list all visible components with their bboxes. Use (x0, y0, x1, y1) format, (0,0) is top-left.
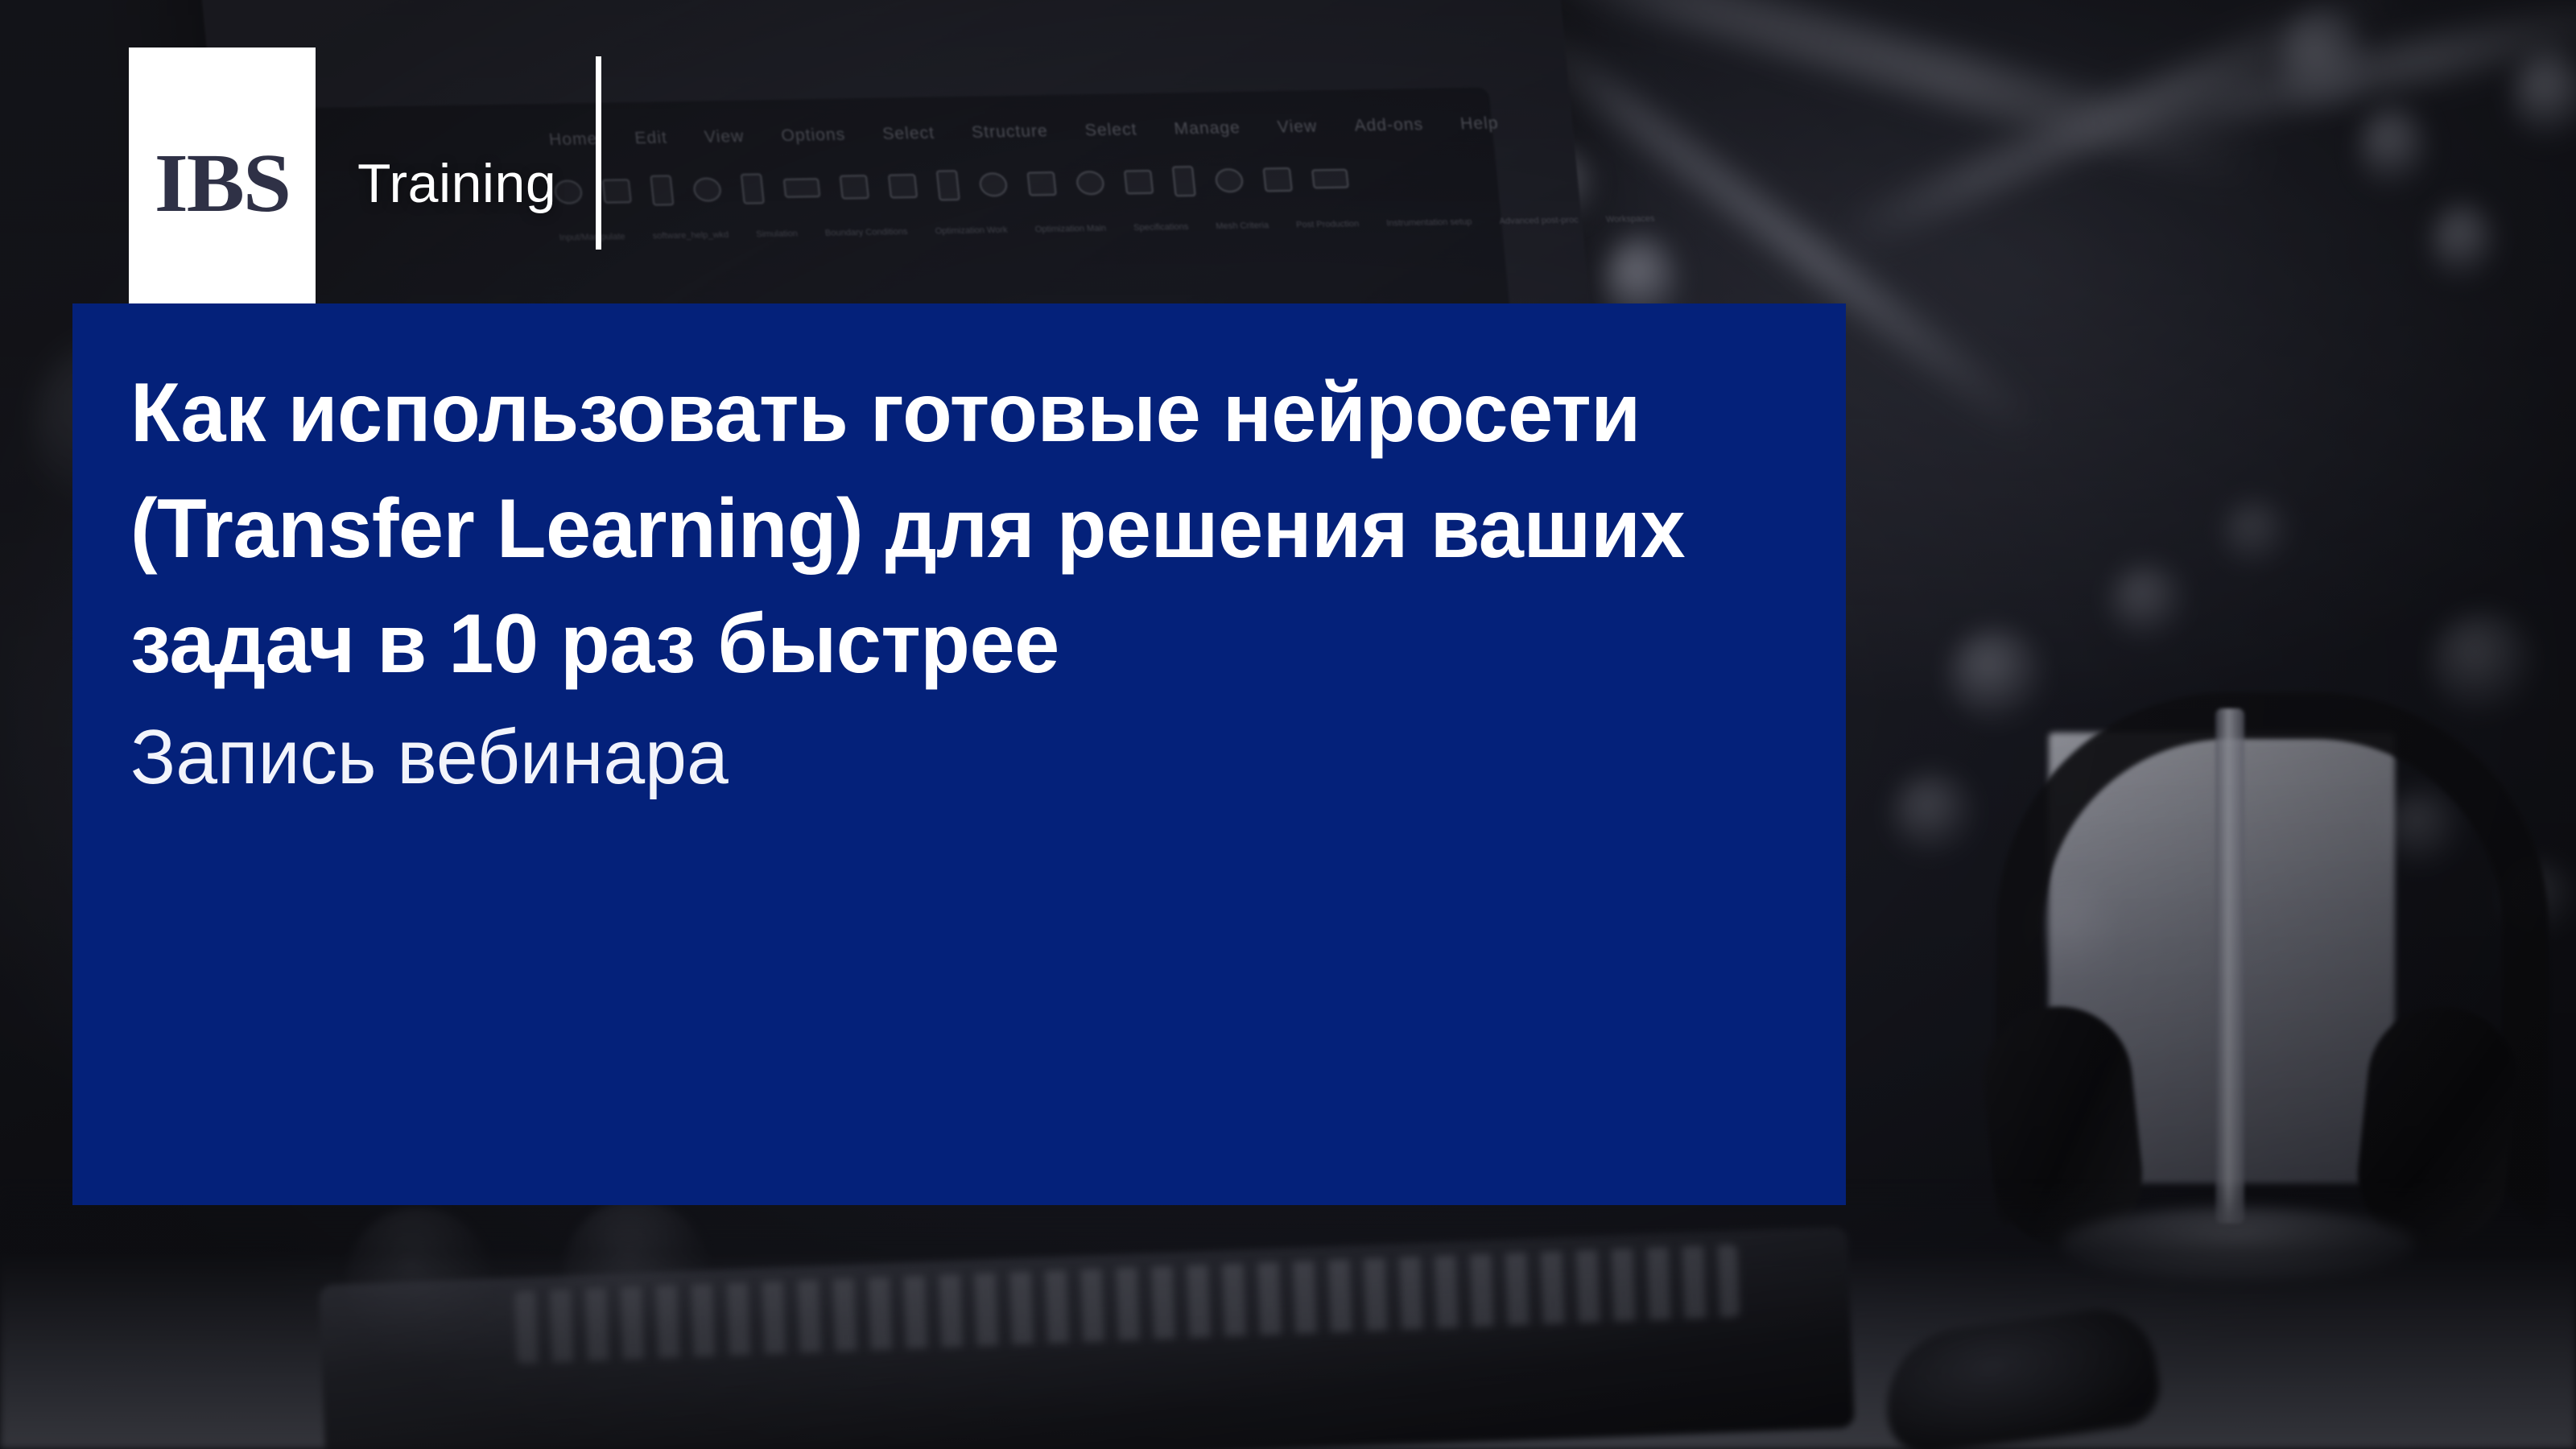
page-subtitle: Запись вебинара (130, 709, 1708, 806)
brand-lockup: IBS Training (129, 47, 556, 320)
ibs-logo-text: IBS (155, 142, 290, 225)
brand-divider-rule (596, 56, 601, 250)
ibs-logo-mark: IBS (129, 47, 316, 320)
cover-image: HomeEditViewOptionsSelectStructureSelect… (0, 0, 2576, 1449)
brand-word-training: Training (357, 156, 556, 211)
page-title: Как использовать готовые нейросети (Tran… (130, 356, 1708, 703)
title-card: Как использовать готовые нейросети (Tran… (72, 303, 1846, 1205)
